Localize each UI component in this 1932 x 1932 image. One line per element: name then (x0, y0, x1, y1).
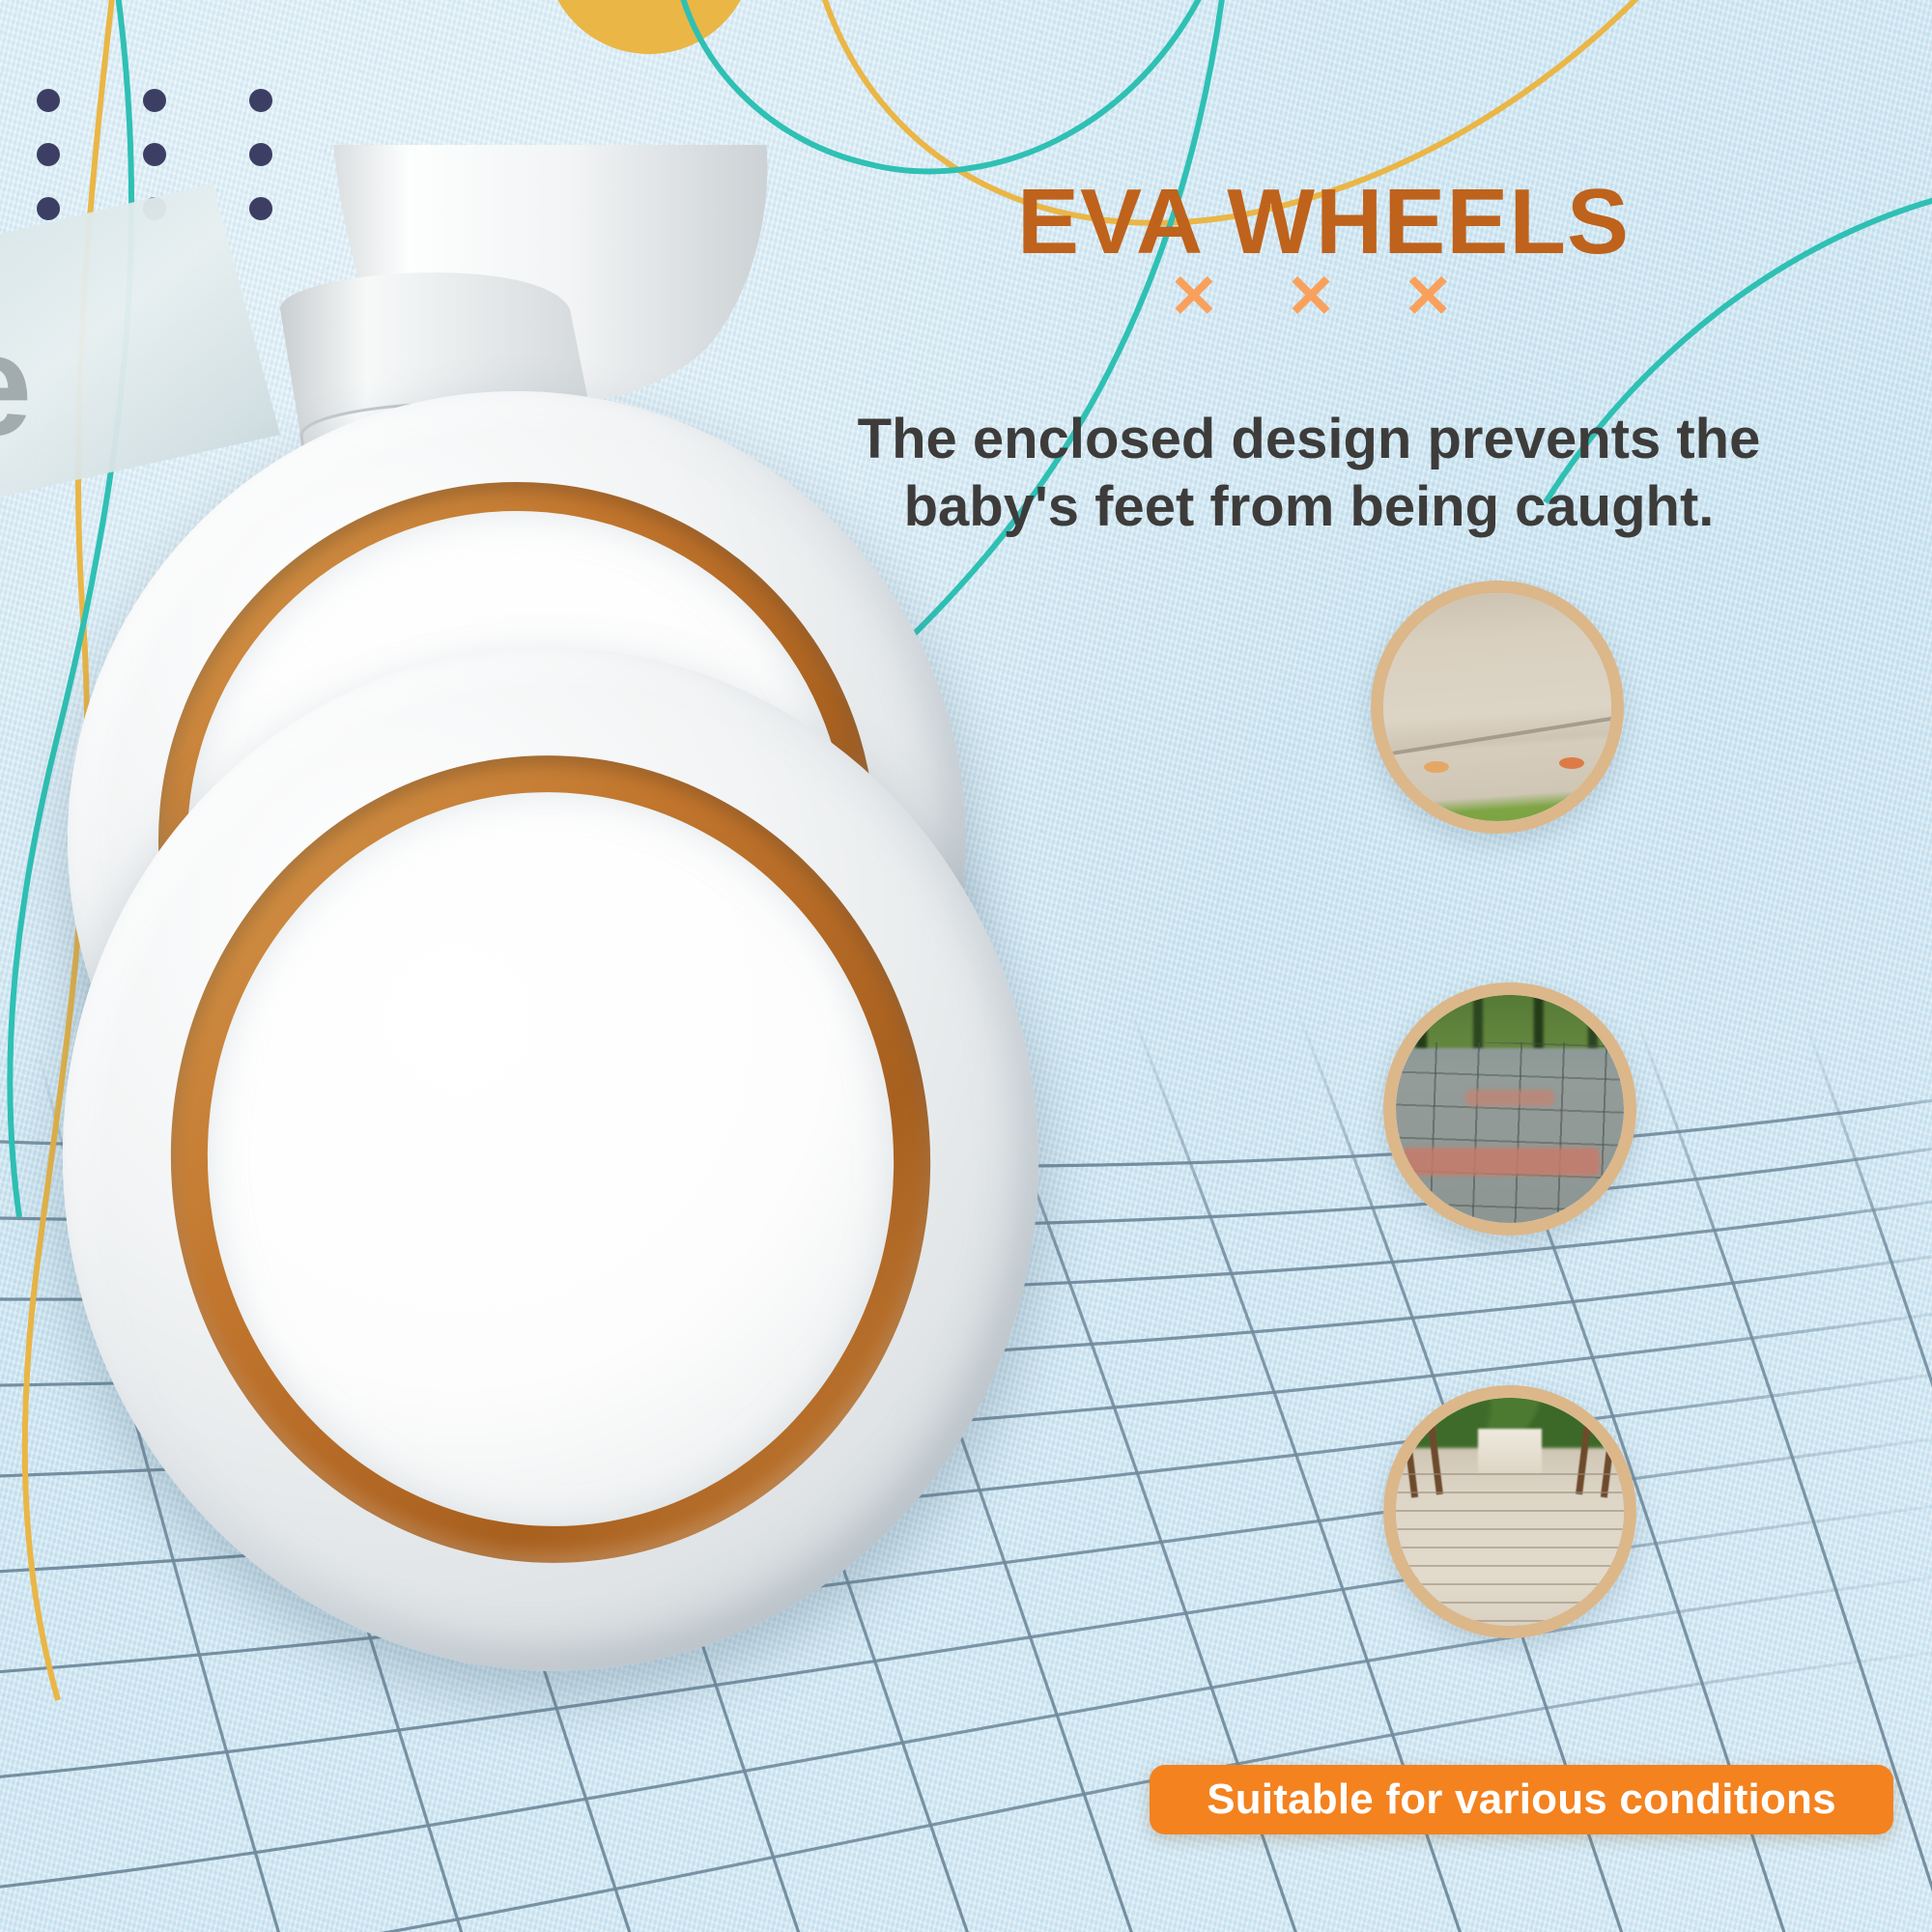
photo-wooden-boardwalk-bridge (1383, 1385, 1636, 1638)
photo-brick-paver-path (1383, 982, 1636, 1236)
status-badge: Suitable for various conditions (1150, 1765, 1893, 1834)
dot (143, 89, 166, 112)
red-brick-accent-far (1465, 1090, 1555, 1106)
subtitle: The enclosed design prevents the baby's … (715, 406, 1903, 540)
sidewalk-image (1383, 593, 1611, 821)
photo-concrete-sidewalk (1371, 581, 1624, 834)
subtitle-line-1: The enclosed design prevents the (715, 406, 1903, 473)
brick-texture (1396, 1042, 1624, 1223)
dot (37, 89, 60, 112)
frame-brand-letter: e (0, 303, 32, 466)
brick-path-image (1396, 995, 1624, 1223)
frame-left-member: e (0, 184, 280, 531)
product-wheel-photo: e (0, 145, 1101, 1806)
product-feature-poster: e EVA WHEELS ✕ ✕ ✕ The enclosed des (0, 0, 1932, 1932)
trees-background (1396, 995, 1624, 1048)
deck-planks (1396, 1473, 1624, 1626)
far-path (1478, 1429, 1542, 1473)
dot (249, 89, 272, 112)
boardwalk-image (1396, 1398, 1624, 1626)
x-divider-decor: ✕ ✕ ✕ (753, 261, 1893, 331)
gold-circle-decor (545, 0, 753, 54)
red-brick-accent (1402, 1148, 1600, 1177)
badge-label: Suitable for various conditions (1207, 1776, 1836, 1824)
subtitle-line-2: baby's feet from being caught. (715, 473, 1903, 541)
page-title: EVA WHEELS (753, 174, 1893, 271)
